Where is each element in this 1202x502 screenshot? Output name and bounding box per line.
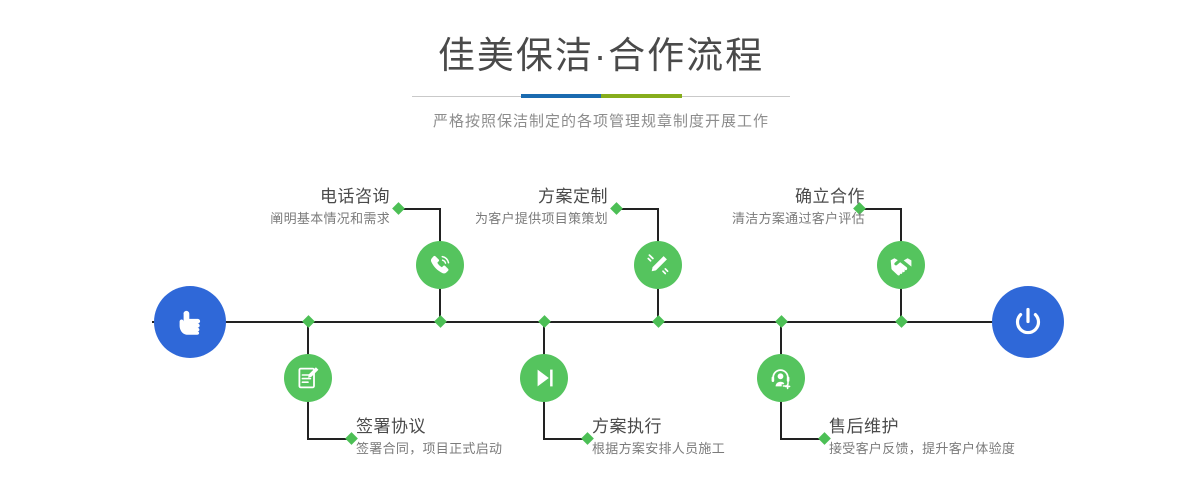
step1-axis-marker (434, 315, 447, 328)
handshake-icon (887, 251, 915, 279)
phone-call-icon (426, 251, 454, 279)
header: 佳美保洁·合作流程 严格按照保洁制定的各项管理规章制度开展工作 (0, 0, 1202, 131)
step6-axis-marker (775, 315, 788, 328)
power-icon (1008, 302, 1048, 342)
step1-label-marker (392, 202, 405, 215)
page-subtitle: 严格按照保洁制定的各项管理规章制度开展工作 (0, 104, 1202, 131)
process-flow-infographic: 佳美保洁·合作流程 严格按照保洁制定的各项管理规章制度开展工作 (0, 0, 1202, 502)
title-divider (0, 90, 1202, 104)
step4-icon-node[interactable] (520, 354, 568, 402)
step6-title: 售后维护 (829, 416, 1015, 438)
step4-label: 方案执行 根据方案安排人员施工 (592, 416, 725, 459)
step5-label: 确立合作 清洁方案通过客户评估 (732, 186, 865, 229)
step5-title: 确立合作 (732, 186, 865, 208)
step6-icon-node[interactable] (757, 354, 805, 402)
step3-desc: 为客户提供项目策策划 (475, 208, 608, 229)
flow-end-node[interactable] (992, 286, 1064, 358)
step1-label: 电话咨询 阐明基本情况和需求 (270, 186, 390, 229)
customer-support-icon (767, 364, 795, 392)
step4-title: 方案执行 (592, 416, 725, 438)
step2-desc: 签署合同，项目正式启动 (356, 438, 502, 459)
pointing-hand-icon (170, 302, 210, 342)
step2-title: 签署协议 (356, 416, 502, 438)
step4-desc: 根据方案安排人员施工 (592, 438, 725, 459)
pencil-design-icon (644, 251, 672, 279)
play-execute-icon (530, 364, 558, 392)
step5-axis-marker (895, 315, 908, 328)
step1-desc: 阐明基本情况和需求 (270, 208, 390, 229)
flow-start-node[interactable] (154, 286, 226, 358)
flow-diagram: 电话咨询 阐明基本情况和需求 签署协议 签署合同，项目正式启动 (0, 150, 1202, 502)
step6-label: 售后维护 接受客户反馈，提升客户体验度 (829, 416, 1015, 459)
divider-green-segment (601, 94, 682, 98)
timeline-axis (152, 321, 1050, 323)
step3-axis-marker (652, 315, 665, 328)
step1-icon-node[interactable] (416, 241, 464, 289)
step5-icon-node[interactable] (877, 241, 925, 289)
sign-document-icon (294, 364, 322, 392)
divider-blue-segment (521, 94, 601, 98)
step1-title: 电话咨询 (270, 186, 390, 208)
page-title: 佳美保洁·合作流程 (0, 0, 1202, 78)
step3-title: 方案定制 (475, 186, 608, 208)
step3-icon-node[interactable] (634, 241, 682, 289)
step2-icon-node[interactable] (284, 354, 332, 402)
step3-label: 方案定制 为客户提供项目策策划 (475, 186, 608, 229)
step5-desc: 清洁方案通过客户评估 (732, 208, 865, 229)
step4-axis-marker (538, 315, 551, 328)
step2-axis-marker (302, 315, 315, 328)
step2-label: 签署协议 签署合同，项目正式启动 (356, 416, 502, 459)
step6-desc: 接受客户反馈，提升客户体验度 (829, 438, 1015, 459)
step3-label-marker (610, 202, 623, 215)
